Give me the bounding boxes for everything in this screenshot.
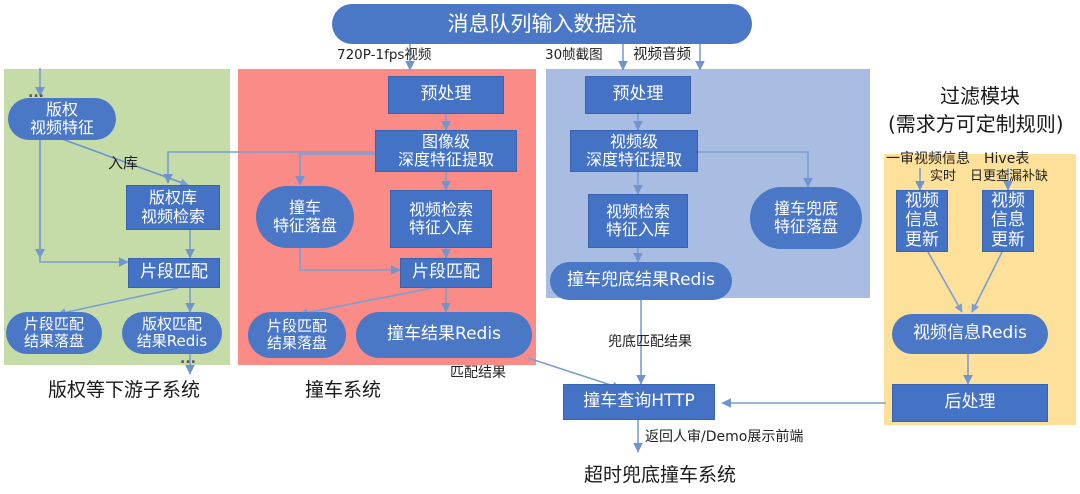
node-line: 撞车 特征落盘 [273,199,337,236]
node-fallback-video-feature[interactable]: 视频级 深度特征提取 [570,130,698,172]
node-fallback-result-redis[interactable]: 撞车兜底结果Redis [550,262,732,300]
node-post-process[interactable]: 后处理 [892,384,1048,422]
node-line: 视频检索 特征入库 [606,203,670,240]
stream-label-720p: 720P-1fps视频 [337,48,431,63]
node-line: 版权库 视频检索 [141,189,205,226]
filter-title-line2: (需求方可定制规则) [888,108,1064,137]
node-line: 撞车结果Redis [387,325,501,345]
node-line: 视频 信息 更新 [991,192,1025,251]
label-hive-table: Hive表 [984,152,1029,167]
node-collision-feature-disk[interactable]: 撞车 特征落盘 [256,186,354,248]
node-line: 后处理 [945,393,996,413]
ellipsis-bottom: ... [180,352,196,367]
label-first-review-video-info: 一审视频信息 [886,152,970,167]
node-line: 版权匹配 结果Redis [137,316,207,351]
node-line: 片段匹配 [412,263,480,283]
node-video-info-redis[interactable]: 视频信息Redis [892,314,1048,354]
node-line: 视频级 深度特征提取 [586,133,682,170]
edge-label-return-frontend: 返回人审/Demo展示前端 [645,430,803,445]
node-copyright-segment-match[interactable]: 片段匹配 [128,258,220,288]
node-collision-retrieval-feature-db[interactable]: 视频检索 特征入库 [390,190,492,248]
node-line: 撞车兜底结果Redis [567,271,715,291]
node-message-queue-input[interactable]: 消息队列输入数据流 [332,4,752,44]
node-line: 视频 信息 更新 [905,192,939,251]
label-realtime: 实时 [930,170,956,184]
node-video-info-update-realtime[interactable]: 视频 信息 更新 [896,190,948,252]
node-collision-preprocess[interactable]: 预处理 [388,76,504,114]
node-collision-segment-match[interactable]: 片段匹配 [400,258,492,288]
label-daily-update-fill: 日更查漏补缺 [970,170,1048,184]
node-line: 版权 视频特征 [30,101,94,138]
stream-label-audio: 视频音频 [633,48,691,64]
filter-title-line1: 过滤模块 [940,80,1020,109]
node-copyright-video-feature[interactable]: 版权 视频特征 [8,98,116,140]
diagram-canvas: 消息队列输入数据流 720P-1fps视频 30帧截图 视频音频 ... 版权 … [0,0,1080,494]
node-line: 图像级 深度特征提取 [398,133,494,170]
node-line: 片段匹配 结果落盘 [24,316,84,351]
caption-collision-system: 撞车系统 [305,375,381,402]
node-collision-segment-result-disk[interactable]: 片段匹配 结果落盘 [248,312,346,358]
node-line: 视频信息Redis [913,324,1027,344]
node-line: 片段匹配 结果落盘 [267,318,327,353]
node-line: 撞车查询HTTP [583,392,695,412]
node-line: 预处理 [421,85,472,105]
node-collision-result-redis[interactable]: 撞车结果Redis [356,312,532,358]
node-line: 片段匹配 [140,263,208,283]
node-video-info-update-hive[interactable]: 视频 信息 更新 [982,190,1034,252]
edge-label-match-result: 匹配结果 [450,366,506,381]
edge-label-ruku: 入库 [108,155,138,172]
node-fallback-feature-disk[interactable]: 撞车兜底 特征落盘 [750,187,862,249]
caption-timeout-fallback-system: 超时兜底撞车系统 [584,460,736,487]
node-line: 预处理 [613,85,664,105]
node-collision-image-feature[interactable]: 图像级 深度特征提取 [375,130,517,172]
node-copyright-db-retrieval[interactable]: 版权库 视频检索 [126,185,220,230]
node-fallback-retrieval-feature-db[interactable]: 视频检索 特征入库 [588,194,688,248]
node-line: 撞车兜底 特征落盘 [774,200,838,237]
stream-label-30frames: 30帧截图 [545,48,603,63]
node-copyright-match-result-redis[interactable]: 版权匹配 结果Redis [122,312,222,354]
node-copyright-segment-result-disk[interactable]: 片段匹配 结果落盘 [6,312,102,354]
edge-label-fallback-match-result: 兜底匹配结果 [608,335,692,350]
node-collision-query-http[interactable]: 撞车查询HTTP [563,384,715,420]
node-line: 视频检索 特征入库 [409,201,473,238]
caption-copyright-subsystem: 版权等下游子系统 [48,375,200,402]
node-fallback-preprocess[interactable]: 预处理 [585,76,691,114]
